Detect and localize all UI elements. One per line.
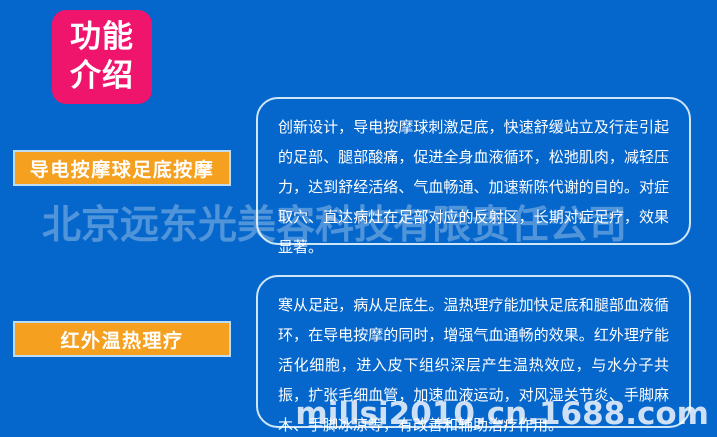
section-chip-label: 红外温热理疗 — [60, 326, 183, 353]
promo-poster: 功能 介绍 导电按摩球足底按摩 红外温热理疗 创新设计，导电按摩球刺激足底，快速… — [0, 0, 717, 437]
badge-line-1: 功能 — [70, 18, 134, 57]
description-panel-infrared-therapy: 寒从足起，病从足底生。温热理疗能加快足底和腿部血液循环，在导电按摩的同时，增强气… — [256, 275, 691, 428]
description-text: 寒从足起，病从足底生。温热理疗能加快足底和腿部血液循环，在导电按摩的同时，增强气… — [278, 290, 669, 437]
badge-line-2: 介绍 — [70, 57, 134, 96]
section-chip-conductive-massage: 导电按摩球足底按摩 — [13, 150, 231, 186]
description-panel-conductive-massage: 创新设计，导电按摩球刺激足底，快速舒缓站立及行走引起的足部、腿部酸痛，促进全身血… — [256, 97, 691, 245]
section-chip-infrared-therapy: 红外温热理疗 — [13, 321, 231, 357]
feature-intro-badge: 功能 介绍 — [52, 10, 152, 104]
description-text: 创新设计，导电按摩球刺激足底，快速舒缓站立及行走引起的足部、腿部酸痛，促进全身血… — [278, 112, 669, 262]
section-chip-label: 导电按摩球足底按摩 — [30, 155, 215, 182]
